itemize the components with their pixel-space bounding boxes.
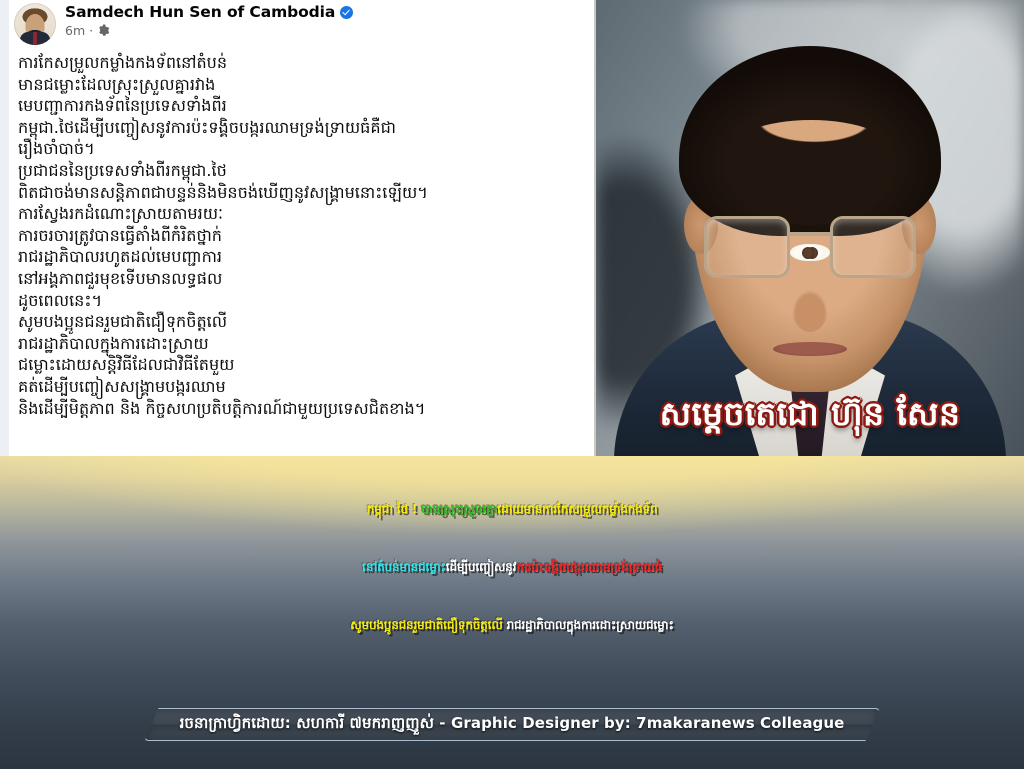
headline-segment-2-1: នៅតំបន់មានជម្លោះ [362,560,446,574]
headline-line-1: កម្ពុជា ថៃ ! បានស្រុះស្រួលគ្នាដោយមានការក… [0,480,1024,538]
eyeglass-lens-right [830,216,916,278]
headline-segment-3-1: សូមបងប្អូនជនរួមជាតិជឿទុកចិត្តលើ [350,618,502,632]
post-timestamp[interactable]: 6m [65,23,85,38]
gear-icon[interactable] [97,24,110,37]
post-author-block: Samdech Hun Sen of Cambodia 6m · [65,2,353,38]
avatar[interactable] [14,3,56,45]
meta-separator-dot: · [89,23,93,38]
post-author-name[interactable]: Samdech Hun Sen of Cambodia [65,3,335,21]
headline-segment-2-3: ការប៉ះទង្គិចបង្ករឈាមទ្រង់ទ្រាយធំ [516,560,662,574]
headline-segment-1-3: ដោយមានការកែសម្រួលកម្លាំងកងទ័ព [497,502,657,516]
eyeglass-bridge [790,232,832,236]
headline-segment-3-2: រាជរដ្ឋាភិបាលក្នុងការដោះស្រាយជម្លោះ [503,618,674,632]
portrait-nose [790,272,830,332]
headline-banner: កម្ពុជា ថៃ ! បានស្រុះស្រួលគ្នាដោយមានការក… [0,456,1024,769]
post-body-text: ការកែសម្រួលកម្លាំងកងទ័ពនៅតំបន់ មានជម្លោះ… [18,52,593,419]
headline-segment-2-2: ដើម្បីបញ្ចៀសនូវ [446,560,517,574]
portrait-caption: សម្តេចតេជោ ហ៊ុន សែន [596,394,1024,442]
credit-text: រចនាក្រាហ្វិកដោយ: សហការី ៧មករាញញួស់ - Gr… [180,714,845,736]
facebook-post-screenshot: Samdech Hun Sen of Cambodia 6m · ការកែសម… [0,0,596,456]
post-author-row: Samdech Hun Sen of Cambodia [65,3,353,21]
headline-line-2: នៅតំបន់មានជម្លោះដើម្បីបញ្ចៀសនូវការប៉ះទង្… [0,538,1024,596]
headline-segment-1-1: កម្ពុជា ថៃ ! [367,502,418,516]
post-left-rail [0,0,9,456]
verified-badge-icon [340,6,353,19]
post-meta-row: 6m · [65,23,353,38]
portrait-mouth [773,342,847,356]
eyeglass-lens-left [704,216,790,278]
headline-lines: កម្ពុជា ថៃ ! បានស្រុះស្រួលគ្នាដោយមានការក… [0,480,1024,654]
headline-segment-1-2: បានស្រុះស្រួលគ្នា [417,502,497,516]
credit-ribbon: រចនាក្រាហ្វិកដោយ: សហការី ៧មករាញញួស់ - Gr… [145,708,880,741]
post-header: Samdech Hun Sen of Cambodia 6m · [14,2,574,48]
headline-line-3: សូមបងប្អូនជនរួមជាតិជឿទុកចិត្តលើ រាជរដ្ឋា… [0,596,1024,654]
portrait-photo: សម្តេចតេជោ ហ៊ុន សែន [596,0,1024,456]
news-graphic-canvas: Samdech Hun Sen of Cambodia 6m · ការកែសម… [0,0,1024,769]
